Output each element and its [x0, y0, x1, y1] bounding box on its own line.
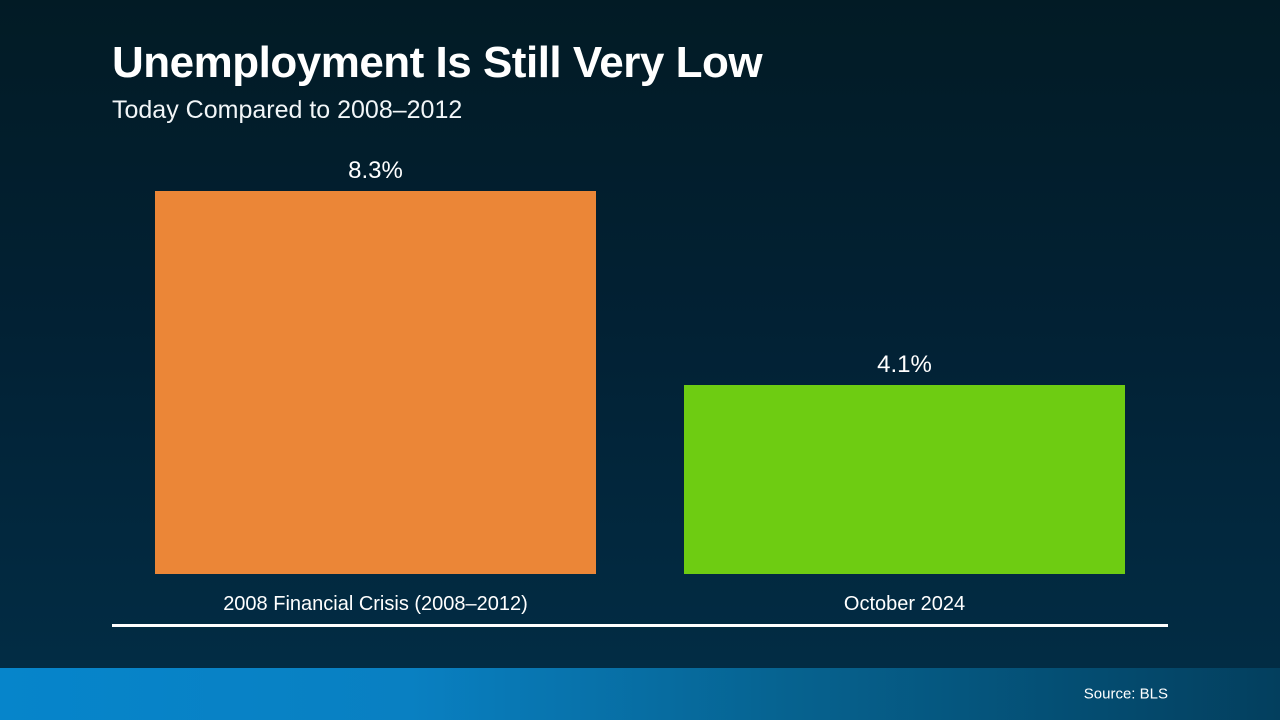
- bar-category-label: 2008 Financial Crisis (2008–2012): [155, 594, 596, 614]
- bar-group-crisis: 8.3% 2008 Financial Crisis (2008–2012): [155, 191, 596, 574]
- slide-canvas: Unemployment Is Still Very Low Today Com…: [0, 0, 1280, 720]
- bar-chart-plot-area: 8.3% 2008 Financial Crisis (2008–2012) 4…: [0, 0, 1280, 668]
- bar-current[interactable]: [684, 385, 1125, 574]
- source-note: Source: BLS: [1084, 686, 1168, 703]
- footer-bar: Source: BLS: [0, 668, 1280, 720]
- bar-crisis[interactable]: [155, 191, 596, 574]
- axis-baseline: [112, 624, 1168, 627]
- bar-group-current: 4.1% October 2024: [684, 385, 1125, 574]
- bar-value-label: 8.3%: [155, 159, 596, 183]
- bar-value-label: 4.1%: [684, 353, 1125, 377]
- bar-category-label: October 2024: [684, 594, 1125, 614]
